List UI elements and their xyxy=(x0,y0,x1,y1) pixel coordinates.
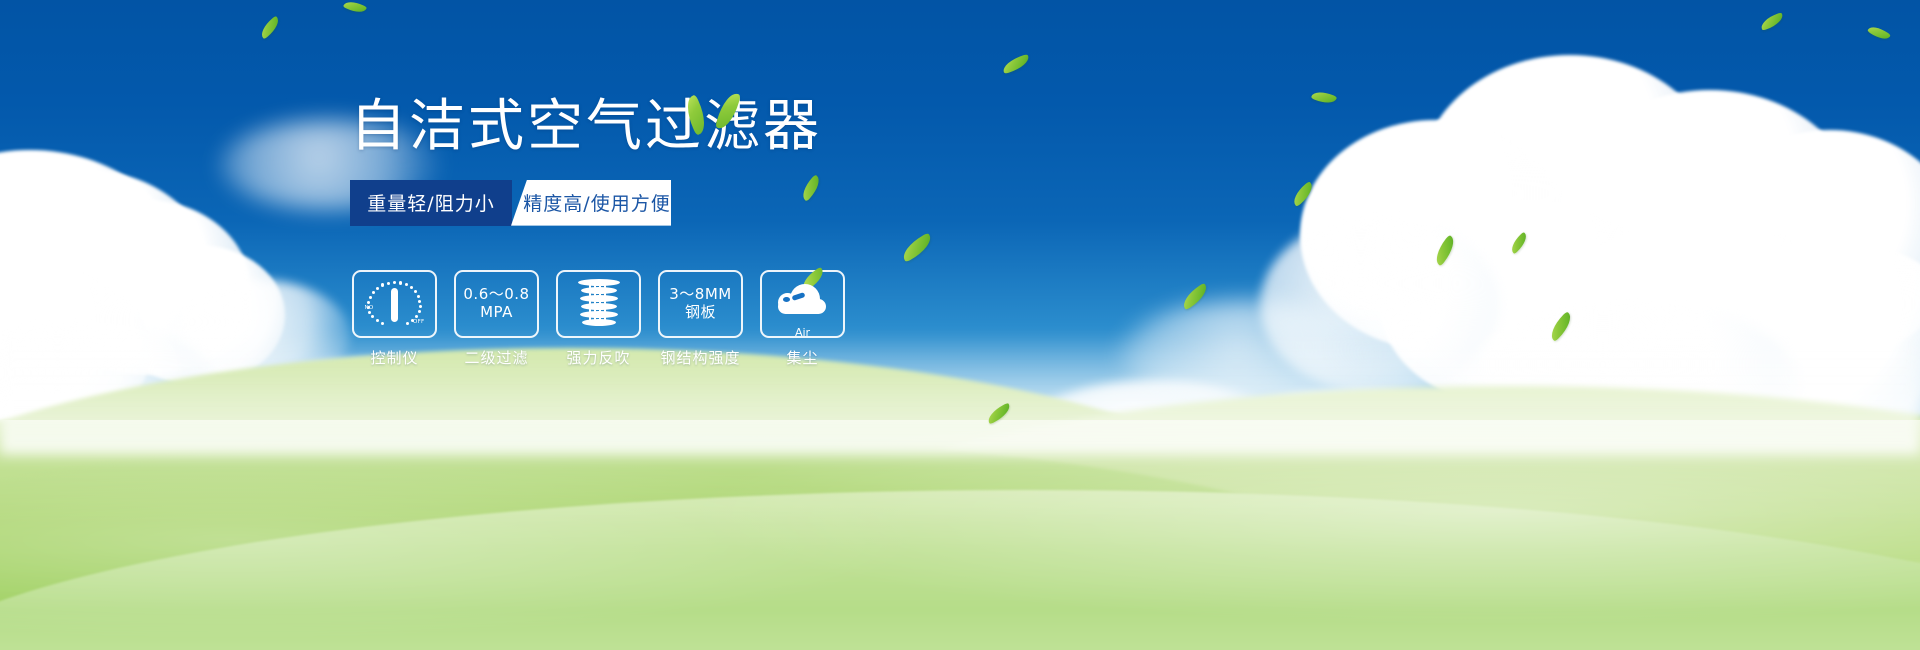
gauge-label-right: OFF xyxy=(413,319,425,325)
feature-item-dust-collection[interactable]: Air 集尘 xyxy=(760,270,845,368)
tagline-tabs: 重量轻/阻力小 精度高/使用方便 xyxy=(350,180,672,226)
steel-value-line2: 钢板 xyxy=(685,304,716,322)
tab-high-precision-easy-use[interactable]: 精度高/使用方便 xyxy=(511,180,671,226)
feature-icon-box xyxy=(556,270,641,338)
feature-caption: 二级过滤 xyxy=(454,347,539,368)
feature-item-secondary-filtration[interactable]: 0.6〜0.8 MPA 二级过滤 xyxy=(454,270,539,368)
tab-lightweight-low-resistance[interactable]: 重量轻/阻力小 xyxy=(350,180,512,226)
leaf-sprout-icon xyxy=(680,90,750,140)
feature-item-controller[interactable]: NO OFF 控制仪 xyxy=(352,270,437,368)
feature-caption: 强力反吹 xyxy=(556,347,641,368)
gauge-dial-icon: NO OFF xyxy=(367,279,423,329)
steel-value-line1: 3〜8MM xyxy=(669,286,731,304)
grass-ground xyxy=(0,420,1920,650)
tab-label: 精度高/使用方便 xyxy=(523,189,670,216)
filter-stack-icon xyxy=(578,279,620,329)
feature-icon-box: 3〜8MM 钢板 xyxy=(658,270,743,338)
feature-icon-box: NO OFF xyxy=(352,270,437,338)
feature-item-steel-strength[interactable]: 3〜8MM 钢板 钢结构强度 xyxy=(658,270,743,368)
air-label: Air xyxy=(776,326,830,339)
banner-content: 自洁式空气过滤器 重量轻/阻力小 精度高/使用方便 xyxy=(350,96,1050,226)
feature-caption: 集尘 xyxy=(760,347,845,368)
feature-caption: 控制仪 xyxy=(352,347,437,368)
feature-item-strong-blowback[interactable]: 强力反吹 xyxy=(556,270,641,368)
feature-icon-box: 0.6〜0.8 MPA xyxy=(454,270,539,338)
feature-list: NO OFF 控制仪 0.6〜0.8 MPA 二级过滤 xyxy=(352,270,845,368)
horizon-glow xyxy=(0,334,1920,454)
gauge-label-left: NO xyxy=(365,305,374,311)
cloud-air-icon: Air xyxy=(776,282,830,326)
hero-banner: 自洁式空气过滤器 重量轻/阻力小 精度高/使用方便 xyxy=(0,0,1920,650)
feature-icon-box: Air xyxy=(760,270,845,338)
feature-caption: 钢结构强度 xyxy=(658,347,743,368)
tab-label: 重量轻/阻力小 xyxy=(367,189,494,216)
pressure-value-line2: MPA xyxy=(480,304,513,322)
pressure-value-line1: 0.6〜0.8 xyxy=(463,286,529,304)
